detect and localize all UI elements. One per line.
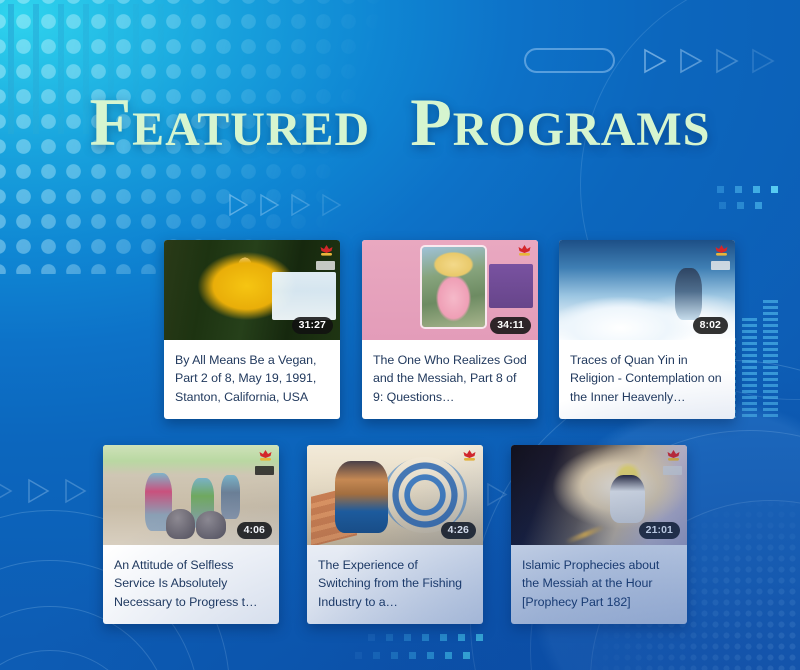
lotus-emblem-icon	[713, 244, 730, 259]
duration-badge: 4:06	[237, 522, 272, 539]
square-dot	[719, 202, 726, 209]
lotus-emblem-icon	[318, 244, 335, 259]
square-dot	[355, 652, 362, 659]
play-triangle-icon	[751, 48, 775, 79]
program-card[interactable]: 31:27 By All Means Be a Vegan, Part 2 of…	[164, 240, 340, 419]
play-triangle-icon	[715, 48, 739, 79]
square-dot	[386, 634, 393, 641]
square-dot	[737, 202, 744, 209]
square-dot	[755, 202, 762, 209]
page-title: Featured Programs	[0, 88, 800, 156]
program-title[interactable]: Islamic Prophecies about the Messiah at …	[511, 545, 687, 624]
program-title[interactable]: By All Means Be a Vegan, Part 2 of 8, Ma…	[164, 340, 340, 419]
play-triangle-icon	[321, 193, 342, 222]
program-title[interactable]: The One Who Realizes God and the Messiah…	[362, 340, 538, 419]
square-dot	[458, 634, 465, 641]
program-title[interactable]: The Experience of Switching from the Fis…	[307, 545, 483, 624]
square-dot-row-top-2	[719, 202, 762, 209]
play-triangle-icon	[290, 193, 311, 222]
program-card[interactable]: 4:06 An Attitude of Selfless Service Is …	[103, 445, 279, 624]
play-triangle-icon	[643, 48, 667, 79]
square-dot	[440, 634, 447, 641]
square-dot	[409, 652, 416, 659]
duration-badge: 34:11	[490, 317, 531, 334]
square-dot	[404, 634, 411, 641]
rounded-pill-outline	[524, 48, 615, 73]
play-triangle-icon	[228, 193, 249, 222]
program-thumbnail[interactable]: 8:02	[559, 240, 735, 340]
square-dot	[391, 652, 398, 659]
square-dot	[445, 652, 452, 659]
square-dot	[368, 634, 375, 641]
program-thumbnail[interactable]: 4:26	[307, 445, 483, 545]
play-triangle-icon	[64, 478, 87, 509]
duration-badge: 31:27	[292, 317, 333, 334]
lotus-emblem-icon	[665, 449, 682, 464]
duration-badge: 21:01	[639, 522, 680, 539]
thumbnail-sub-watermark	[663, 466, 682, 475]
lotus-emblem-icon	[461, 449, 478, 464]
thumbnail-info-overlay	[489, 264, 533, 308]
program-card[interactable]: 34:11 The One Who Realizes God and the M…	[362, 240, 538, 419]
play-triangle-icon	[679, 48, 703, 79]
featured-programs-banner: Featured Programs 31:27 By All Means Be …	[0, 0, 800, 670]
thumbnail-info-overlay	[272, 272, 336, 320]
duration-badge: 8:02	[693, 317, 728, 334]
thumbnail-sub-watermark	[255, 466, 274, 475]
play-triangle-icon	[27, 478, 50, 509]
lotus-emblem-icon	[257, 449, 274, 464]
square-dot	[753, 186, 760, 193]
play-triangle-icon	[486, 482, 508, 512]
thumbnail-sub-watermark	[316, 261, 335, 270]
program-thumbnail[interactable]: 21:01	[511, 445, 687, 545]
square-dot	[735, 186, 742, 193]
thumbnail-sub-watermark	[711, 261, 730, 270]
program-thumbnail[interactable]: 4:06	[103, 445, 279, 545]
program-card[interactable]: 4:26 The Experience of Switching from th…	[307, 445, 483, 624]
square-dot	[373, 652, 380, 659]
program-title[interactable]: An Attitude of Selfless Service Is Absol…	[103, 545, 279, 624]
program-title[interactable]: Traces of Quan Yin in Religion - Contemp…	[559, 340, 735, 419]
square-dot	[463, 652, 470, 659]
square-dot-row-top-1	[717, 186, 778, 193]
duration-badge: 4:26	[441, 522, 476, 539]
square-dot	[427, 652, 434, 659]
square-dot	[717, 186, 724, 193]
program-card[interactable]: 8:02 Traces of Quan Yin in Religion - Co…	[559, 240, 735, 419]
program-card[interactable]: 21:01 Islamic Prophecies about the Messi…	[511, 445, 687, 624]
program-thumbnail[interactable]: 31:27	[164, 240, 340, 340]
lotus-emblem-icon	[516, 244, 533, 259]
square-dot	[476, 634, 483, 641]
square-dot	[422, 634, 429, 641]
page-title-word-featured: Featured	[90, 84, 371, 160]
square-dot-row-bottom-1	[368, 634, 483, 641]
play-triangle-icon	[0, 478, 13, 509]
play-triangles-top-right	[643, 48, 775, 79]
play-triangles-mid-left	[228, 193, 342, 222]
square-dot-row-bottom-2	[355, 652, 470, 659]
play-triangles-bottom-left	[0, 478, 87, 509]
play-triangle-icon	[259, 193, 280, 222]
page-title-word-programs: Programs	[410, 84, 710, 160]
program-thumbnail[interactable]: 34:11	[362, 240, 538, 340]
square-dot	[771, 186, 778, 193]
